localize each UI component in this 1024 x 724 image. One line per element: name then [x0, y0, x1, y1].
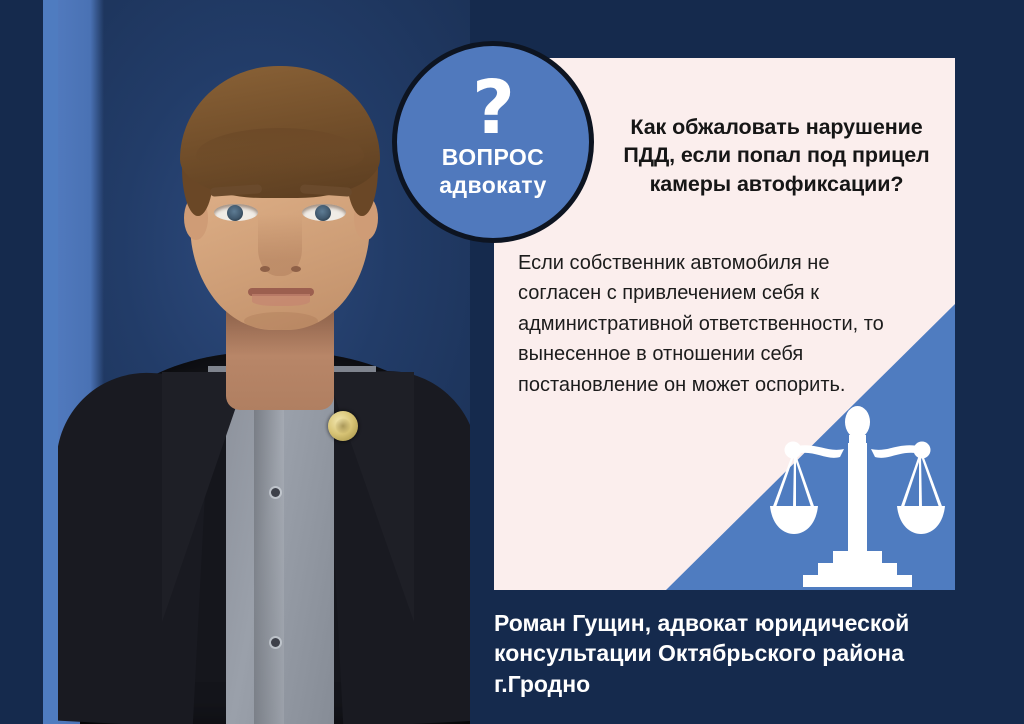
caption-line-2: консультации Октябрьского района: [494, 638, 999, 668]
shirt-placket: [254, 400, 284, 724]
lower-lip: [252, 294, 310, 306]
nostril-right: [291, 266, 301, 272]
card-answer-body: Если собственник автомобиля не согласен …: [518, 248, 898, 400]
caption-line-1: Роман Гущин, адвокат юридической: [494, 608, 999, 638]
shirt-button: [271, 488, 280, 497]
question-mark-icon: ?: [472, 76, 514, 141]
chin: [244, 312, 318, 330]
iris-right: [315, 205, 331, 221]
poster-container: Как обжаловать нарушение ПДД, если попал…: [0, 0, 1024, 724]
badge-label-line2: адвокату: [439, 171, 546, 199]
jacket-lapel-right: [326, 372, 414, 622]
badge-label-line1: ВОПРОС: [442, 143, 544, 171]
caption-line-3: г.Гродно: [494, 669, 999, 699]
shirt-button: [271, 638, 280, 647]
iris-left: [227, 205, 243, 221]
eye-left: [214, 204, 258, 221]
scales-of-justice-icon: [770, 405, 945, 587]
question-badge: ? ВОПРОС адвокату: [392, 41, 594, 243]
eye-right: [302, 204, 346, 221]
caption-block: Роман Гущин, адвокат юридической консуль…: [494, 608, 999, 699]
lapel-pin-badge-icon: [328, 411, 358, 441]
nostril-left: [260, 266, 270, 272]
jacket-lapel-left: [162, 372, 248, 622]
card-question-title: Как обжаловать нарушение ПДД, если попал…: [604, 113, 949, 198]
